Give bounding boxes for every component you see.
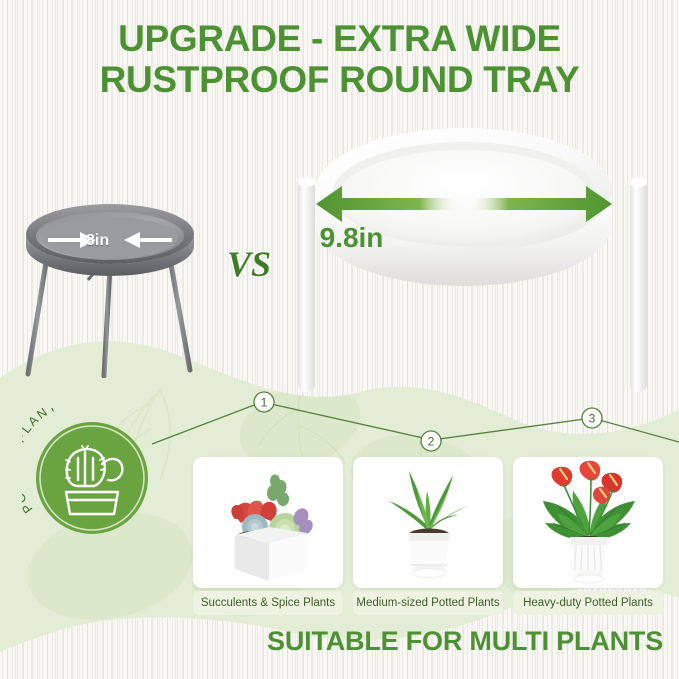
- headline-line-1: UPGRADE - EXTRA WIDE: [0, 18, 679, 59]
- headline-line-2: RUSTPROOF ROUND TRAY: [0, 59, 679, 100]
- plant-card-3-image[interactable]: [513, 457, 663, 588]
- plant-card-2-image[interactable]: [353, 457, 503, 588]
- plant-card-2-label: Medium-sized Potted Plants: [353, 591, 503, 615]
- succulents-in-hexagon-pot: [193, 457, 343, 588]
- marker-2-number: 2: [428, 435, 435, 449]
- plant-cards: Succulents & Spice Plants: [193, 457, 663, 617]
- page-title: UPGRADE - EXTRA WIDE RUSTPROOF ROUND TRA…: [0, 18, 679, 101]
- plant-card-3-label: Heavy-duty Potted Plants: [513, 591, 663, 615]
- large-tray-dimension-label: 9.8in: [0, 222, 679, 254]
- marker-3: 3: [582, 408, 602, 428]
- product-infographic: UPGRADE - EXTRA WIDE RUSTPROOF ROUND TRA…: [0, 0, 679, 679]
- plant-card-1-image[interactable]: [193, 457, 343, 588]
- marker-1: 1: [254, 392, 274, 412]
- aloe-in-white-pot: [353, 457, 503, 588]
- plant-card-1[interactable]: Succulents & Spice Plants: [193, 457, 343, 617]
- plant-card-3[interactable]: Heavy-duty Potted Plants: [513, 457, 663, 617]
- anthurium-in-ribbed-pot: [513, 457, 663, 588]
- bottom-banner: SUITABLE FOR MULTI PLANTS: [0, 626, 679, 657]
- large-tray-dimension-value: 9.8in: [320, 222, 384, 253]
- marker-2: 2: [421, 431, 441, 451]
- marker-1-number: 1: [261, 396, 268, 410]
- plant-card-1-label: Succulents & Spice Plants: [193, 591, 343, 615]
- plant-card-2[interactable]: Medium-sized Potted Plants: [353, 457, 503, 617]
- bottom-banner-text: SUITABLE FOR MULTI PLANTS: [267, 626, 663, 656]
- marker-3-number: 3: [589, 412, 596, 426]
- potted-plant-badge: POTTED PLANT: [22, 408, 162, 548]
